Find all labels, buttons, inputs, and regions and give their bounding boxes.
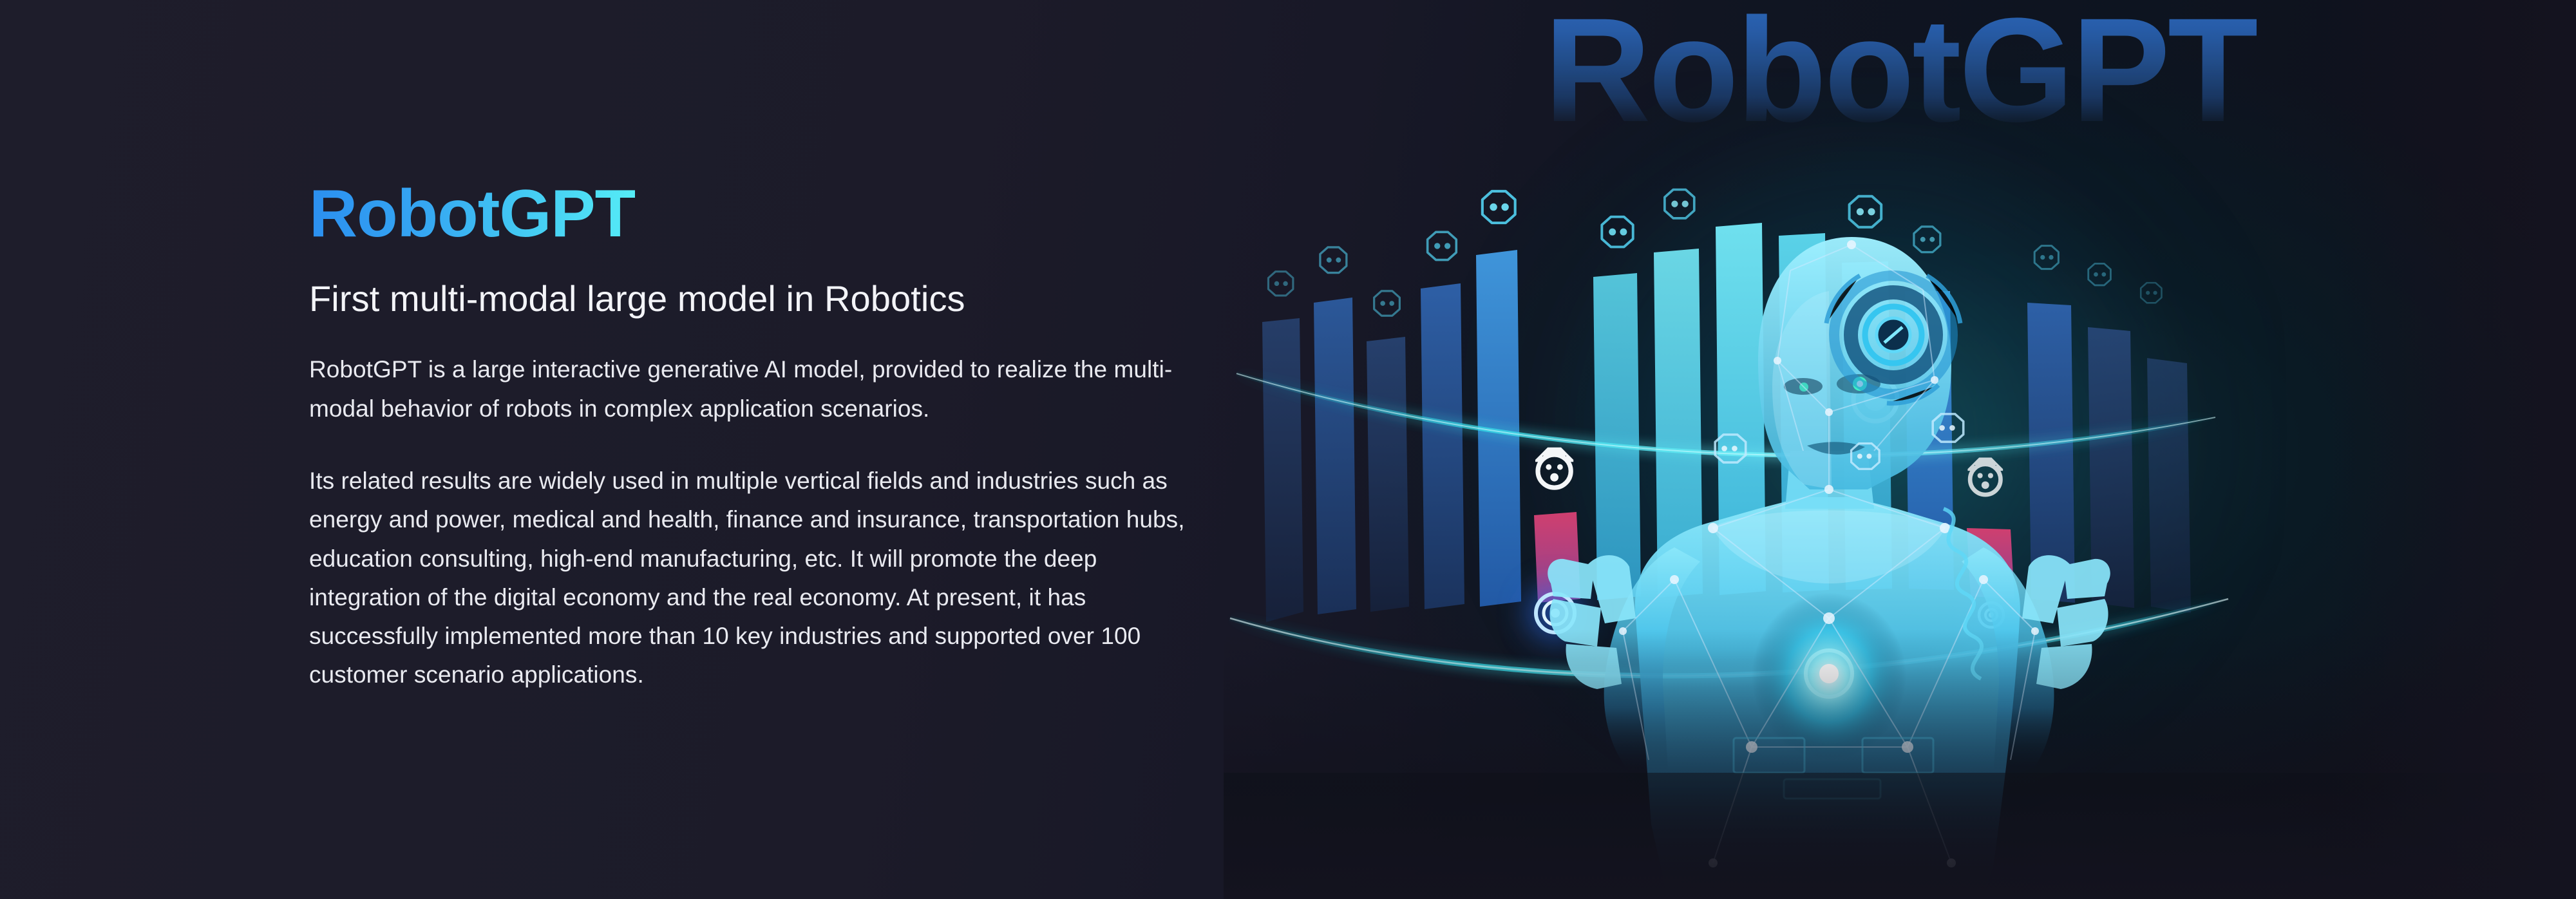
page-subtitle: First multi-modal large model in Robotic… [309,278,1256,319]
hero-banner: RobotGPT First multi-modal large model i… [0,0,2576,899]
robot-face-hexagon-icon [1268,189,2161,316]
robot-hero-illustration: RobotGPT [1224,0,2576,899]
intro-text-panel: RobotGPT First multi-modal large model i… [0,0,1256,899]
description-paragraph-2: Its related results are widely used in m… [309,462,1204,695]
bar-chart [1224,0,2576,899]
page-title: RobotGPT [309,180,635,247]
description-paragraph-1: RobotGPT is a large interactive generati… [309,350,1204,428]
